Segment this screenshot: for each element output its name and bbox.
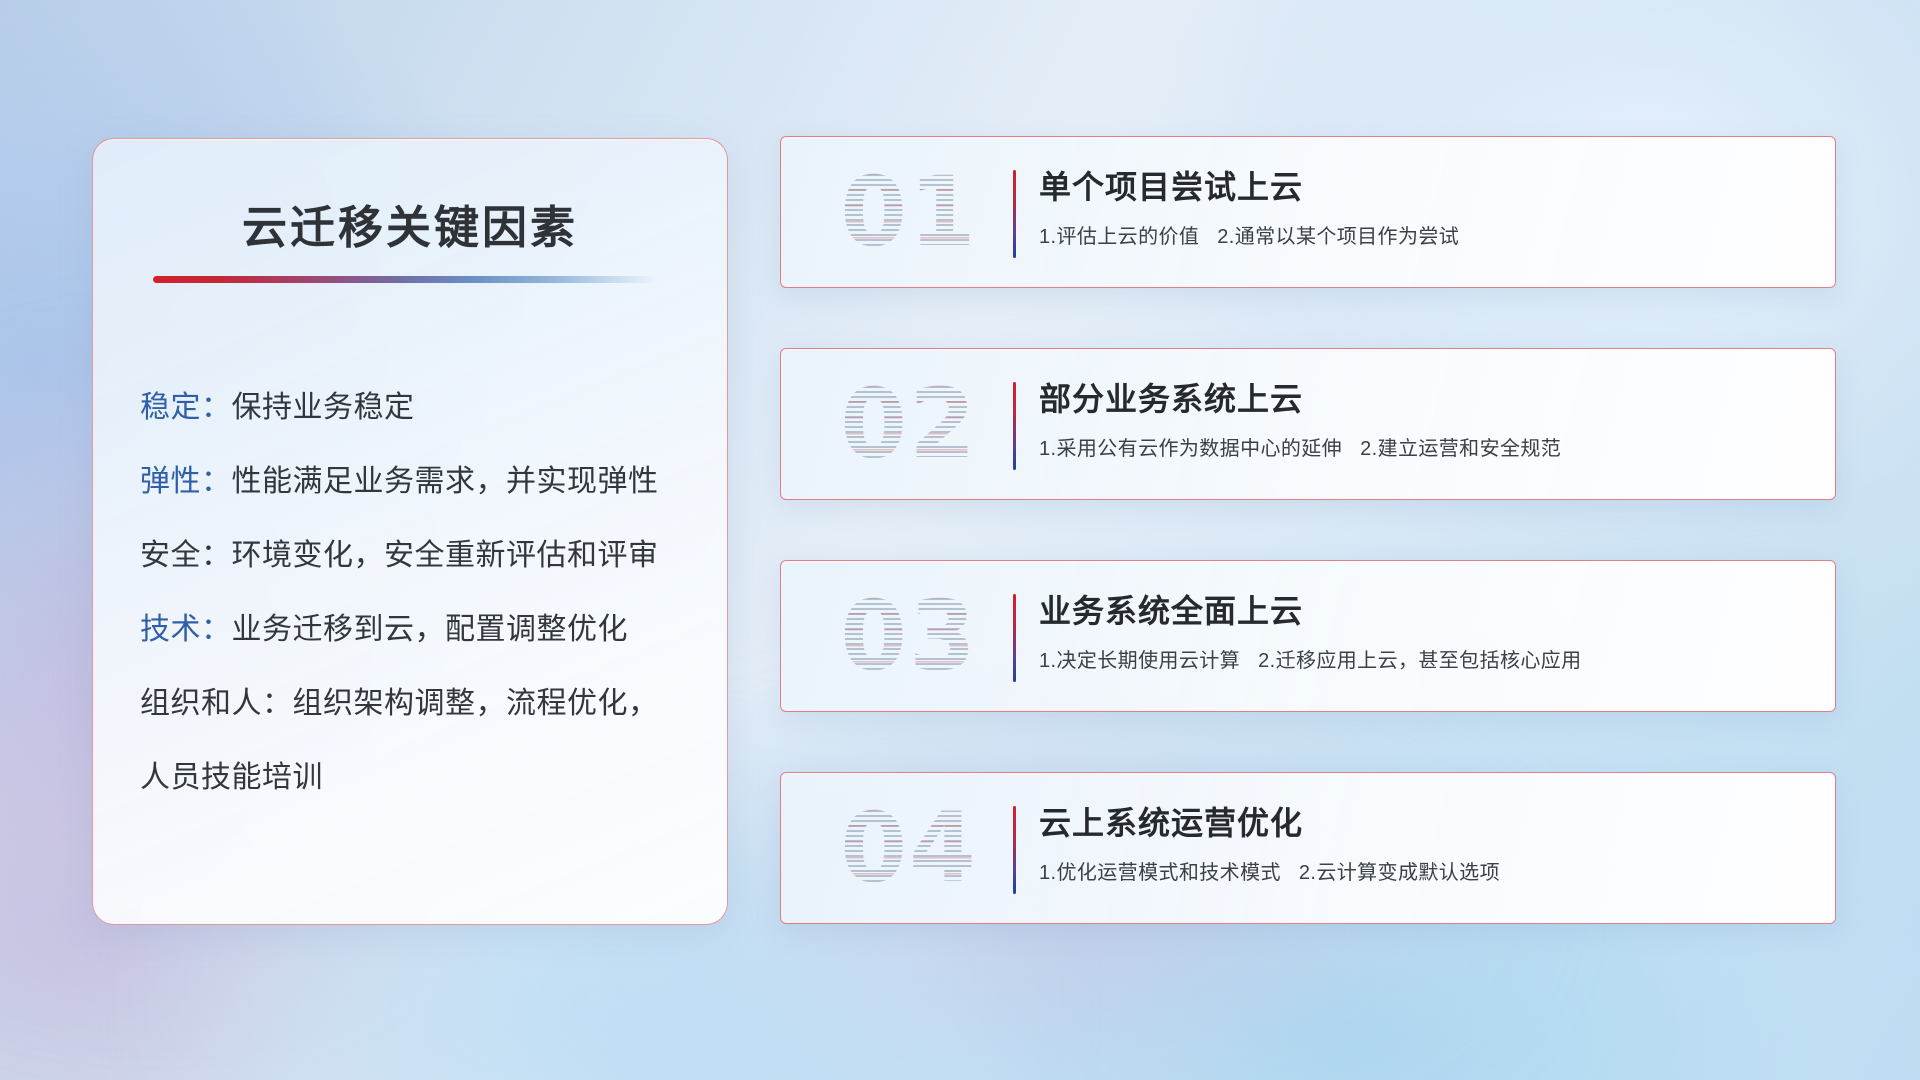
stage-number-text: 01	[840, 164, 978, 260]
card-description: 1.采用公有云作为数据中心的延伸2.建立运营和安全规范	[1039, 435, 1811, 463]
key-factors-list: 稳定：保持业务稳定弹性：性能满足业务需求，并实现弹性安全：环境变化，安全重新评估…	[140, 371, 697, 815]
key-factor-item: 弹性：性能满足业务需求，并实现弹性	[140, 445, 697, 519]
card-description: 1.决定长期使用云计算2.迁移应用上云，甚至包括核心应用	[1039, 647, 1811, 675]
card-description: 1.优化运营模式和技术模式2.云计算变成默认选项	[1039, 859, 1811, 887]
title-underline-gradient	[153, 276, 653, 283]
key-factor-label: 技术：	[140, 613, 232, 646]
stage-number-badge: 0404	[809, 793, 1009, 903]
card-point: 1.评估上云的价值	[1039, 226, 1199, 248]
key-factor-item: 技术：业务迁移到云，配置调整优化	[140, 593, 697, 667]
key-factors-panel: 云迁移关键因素 稳定：保持业务稳定弹性：性能满足业务需求，并实现弹性安全：环境变…	[92, 138, 728, 925]
key-factor-text: 环境变化，安全重新评估和评审	[232, 539, 659, 572]
migration-stage-cards: 0101单个项目尝试上云1.评估上云的价值2.通常以某个项目作为尝试0202部分…	[780, 136, 1836, 924]
key-factor-item: 安全：环境变化，安全重新评估和评审	[140, 519, 697, 593]
key-factor-text: 性能满足业务需求，并实现弹性	[232, 465, 659, 498]
stage-number-tint-overlay: 01	[809, 157, 1009, 267]
card-point: 2.迁移应用上云，甚至包括核心应用	[1258, 650, 1581, 672]
card-point: 2.云计算变成默认选项	[1299, 862, 1500, 884]
migration-stage-card[interactable]: 0303业务系统全面上云1.决定长期使用云计算2.迁移应用上云，甚至包括核心应用	[780, 560, 1836, 712]
stage-number-badge: 0202	[809, 369, 1009, 479]
card-point: 2.通常以某个项目作为尝试	[1217, 226, 1459, 248]
stage-number-tint-overlay: 04	[809, 793, 1009, 903]
card-accent-divider	[1013, 806, 1016, 894]
key-factor-item: 人员技能培训	[140, 741, 697, 815]
key-factor-text: 人员技能培训	[140, 761, 323, 794]
stage-number-badge: 0303	[809, 581, 1009, 691]
card-point: 1.采用公有云作为数据中心的延伸	[1039, 438, 1342, 460]
slide-stage: 云迁移关键因素 稳定：保持业务稳定弹性：性能满足业务需求，并实现弹性安全：环境变…	[0, 0, 1920, 1080]
key-factor-label: 稳定：	[140, 391, 232, 424]
key-factor-item: 组织和人：组织架构调整，流程优化，	[140, 667, 697, 741]
key-factor-item: 稳定：保持业务稳定	[140, 371, 697, 445]
card-body: 云上系统运营优化1.优化运营模式和技术模式2.云计算变成默认选项	[1039, 801, 1811, 887]
key-factor-text: 业务迁移到云，配置调整优化	[232, 613, 629, 646]
stage-number-text: 03	[840, 588, 978, 684]
page-title: 云迁移关键因素	[93, 191, 727, 256]
card-point: 1.决定长期使用云计算	[1039, 650, 1240, 672]
card-body: 单个项目尝试上云1.评估上云的价值2.通常以某个项目作为尝试	[1039, 165, 1811, 251]
card-accent-divider	[1013, 594, 1016, 682]
card-body: 业务系统全面上云1.决定长期使用云计算2.迁移应用上云，甚至包括核心应用	[1039, 589, 1811, 675]
stage-number-text: 04	[840, 800, 978, 896]
stage-number-badge: 0101	[809, 157, 1009, 267]
card-point: 2.建立运营和安全规范	[1360, 438, 1561, 460]
key-factor-label: 弹性：	[140, 465, 232, 498]
card-title: 单个项目尝试上云	[1039, 165, 1811, 209]
card-point: 1.优化运营模式和技术模式	[1039, 862, 1281, 884]
card-title: 部分业务系统上云	[1039, 377, 1811, 421]
key-factor-text: 组织架构调整，流程优化，	[293, 687, 659, 720]
key-factor-label: 组织和人：	[140, 687, 293, 720]
stage-number-text: 02	[840, 376, 978, 472]
migration-stage-card[interactable]: 0101单个项目尝试上云1.评估上云的价值2.通常以某个项目作为尝试	[780, 136, 1836, 288]
migration-stage-card[interactable]: 0404云上系统运营优化1.优化运营模式和技术模式2.云计算变成默认选项	[780, 772, 1836, 924]
stage-number-tint-overlay: 02	[809, 369, 1009, 479]
migration-stage-card[interactable]: 0202部分业务系统上云1.采用公有云作为数据中心的延伸2.建立运营和安全规范	[780, 348, 1836, 500]
card-title: 云上系统运营优化	[1039, 801, 1811, 845]
key-factor-text: 保持业务稳定	[232, 391, 415, 424]
card-accent-divider	[1013, 382, 1016, 470]
card-accent-divider	[1013, 170, 1016, 258]
card-body: 部分业务系统上云1.采用公有云作为数据中心的延伸2.建立运营和安全规范	[1039, 377, 1811, 463]
card-description: 1.评估上云的价值2.通常以某个项目作为尝试	[1039, 223, 1811, 251]
card-title: 业务系统全面上云	[1039, 589, 1811, 633]
key-factor-label: 安全：	[140, 539, 232, 572]
stage-number-tint-overlay: 03	[809, 581, 1009, 691]
